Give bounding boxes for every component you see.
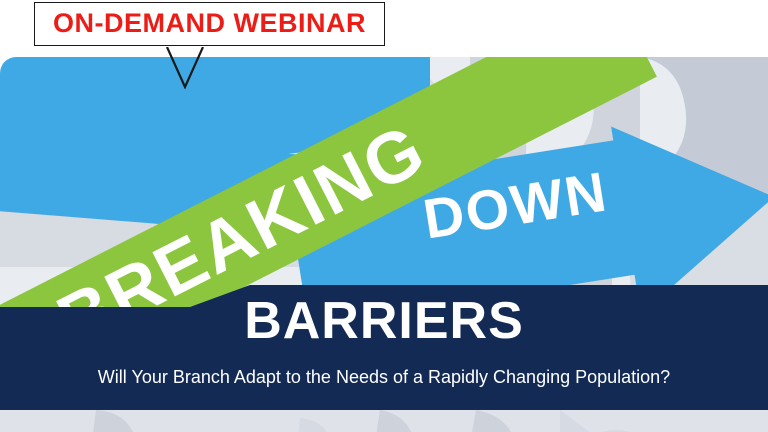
on-demand-webinar-callout: ON-DEMAND WEBINAR [34, 2, 385, 46]
headline-word-barriers: BARRIERS [0, 295, 768, 347]
callout-tail-icon [165, 47, 205, 89]
footer-band: PRESENTED BY LaMACCHIA GROUP [0, 410, 768, 432]
graphic-panel: DOWN BREAKING BARRIERS Will Your Branch … [0, 57, 768, 432]
webinar-banner: DOWN BREAKING BARRIERS Will Your Branch … [0, 0, 768, 432]
callout-label: ON-DEMAND WEBINAR [53, 9, 366, 37]
banner-subtitle: Will Your Branch Adapt to the Needs of a… [0, 367, 768, 389]
footer-silhouettes [0, 410, 768, 432]
